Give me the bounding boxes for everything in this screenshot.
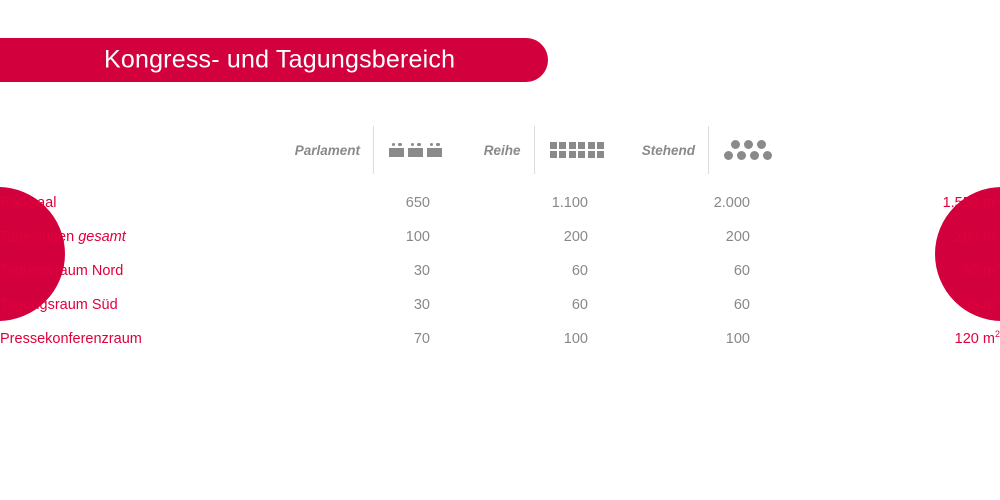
room-name-text: Pressekonferenzraum xyxy=(0,331,142,347)
capacity-stehend: 2.000 xyxy=(604,186,772,220)
room-area-value: 120 m xyxy=(955,331,995,347)
parliament-seating-icon xyxy=(374,143,442,158)
room-area-value: 260 m xyxy=(955,229,995,245)
capacity-parlament: 70 xyxy=(300,322,442,356)
room-name: Tagungsraum Süd xyxy=(0,288,300,322)
capacity-stehend: 100 xyxy=(604,322,772,356)
table-row: Pressekonferenzraum 70 100 100 120 m2 xyxy=(0,322,1000,356)
capacity-table: Parlament xyxy=(0,118,1000,356)
capacity-stehend: 60 xyxy=(604,254,772,288)
table-row: Parksaal 650 1.100 2.000 1.550 m2 xyxy=(0,186,1000,220)
room-name-text: Tagungsraum Nord xyxy=(0,263,123,279)
table-header-row: Parlament xyxy=(0,118,1000,182)
room-area-exponent: 2 xyxy=(995,227,1000,237)
header-area-blank xyxy=(772,118,1000,182)
room-area-value: 1.550 m xyxy=(943,195,995,211)
header-room-blank xyxy=(0,118,300,182)
header-banner: Kongress- und Tagungsbereich xyxy=(0,38,548,82)
capacity-reihe: 200 xyxy=(442,220,604,254)
column-header-reihe: Reihe xyxy=(442,118,604,182)
room-area-exponent: 2 xyxy=(995,261,1000,271)
room-area: 260 m2 xyxy=(772,220,1000,254)
room-name-text: Tagungsraum Süd xyxy=(0,297,118,313)
capacity-parlament: 30 xyxy=(300,254,442,288)
capacity-reihe: 100 xyxy=(442,322,604,356)
table-row: Tageslogen gesamt 100 200 200 260 m2 xyxy=(0,220,1000,254)
room-area: 1.550 m2 xyxy=(772,186,1000,220)
table-row: Tagungsraum Nord 30 60 60 95 m2 xyxy=(0,254,1000,288)
room-name-text: Tageslogen xyxy=(0,229,78,245)
room-area-exponent: 2 xyxy=(995,193,1000,203)
column-header-stehend: Stehend xyxy=(604,118,772,182)
room-area: 95 m2 xyxy=(772,254,1000,288)
room-name-text: Parksaal xyxy=(0,195,56,211)
column-header-parlament-label: Parlament xyxy=(295,143,373,158)
page-title: Kongress- und Tagungsbereich xyxy=(104,46,455,75)
row-seating-icon xyxy=(535,142,605,159)
capacity-table-wrapper: Parlament xyxy=(0,118,1000,356)
room-name: Pressekonferenzraum xyxy=(0,322,300,356)
room-area-value: 95 m xyxy=(963,263,995,279)
room-name-qualifier: gesamt xyxy=(78,229,126,245)
capacity-table-body: Parksaal 650 1.100 2.000 1.550 m2 Tagesl… xyxy=(0,182,1000,356)
capacity-reihe: 60 xyxy=(442,254,604,288)
column-header-reihe-label: Reihe xyxy=(484,143,534,158)
capacity-reihe: 1.100 xyxy=(442,186,604,220)
room-name: Tagungsraum Nord xyxy=(0,254,300,288)
standing-people-icon xyxy=(709,140,772,161)
column-header-parlament: Parlament xyxy=(300,118,442,182)
capacity-parlament: 100 xyxy=(300,220,442,254)
room-name: Tageslogen gesamt xyxy=(0,220,300,254)
room-area: 120 m2 xyxy=(772,322,1000,356)
room-area: 95 m2 xyxy=(772,288,1000,322)
capacity-stehend: 60 xyxy=(604,288,772,322)
room-area-value: 95 m xyxy=(963,297,995,313)
room-area-exponent: 2 xyxy=(995,295,1000,305)
capacity-stehend: 200 xyxy=(604,220,772,254)
capacity-reihe: 60 xyxy=(442,288,604,322)
room-name: Parksaal xyxy=(0,186,300,220)
capacity-parlament: 30 xyxy=(300,288,442,322)
capacity-parlament: 650 xyxy=(300,186,442,220)
room-area-exponent: 2 xyxy=(995,329,1000,339)
table-row: Tagungsraum Süd 30 60 60 95 m2 xyxy=(0,288,1000,322)
column-header-stehend-label: Stehend xyxy=(642,143,708,158)
